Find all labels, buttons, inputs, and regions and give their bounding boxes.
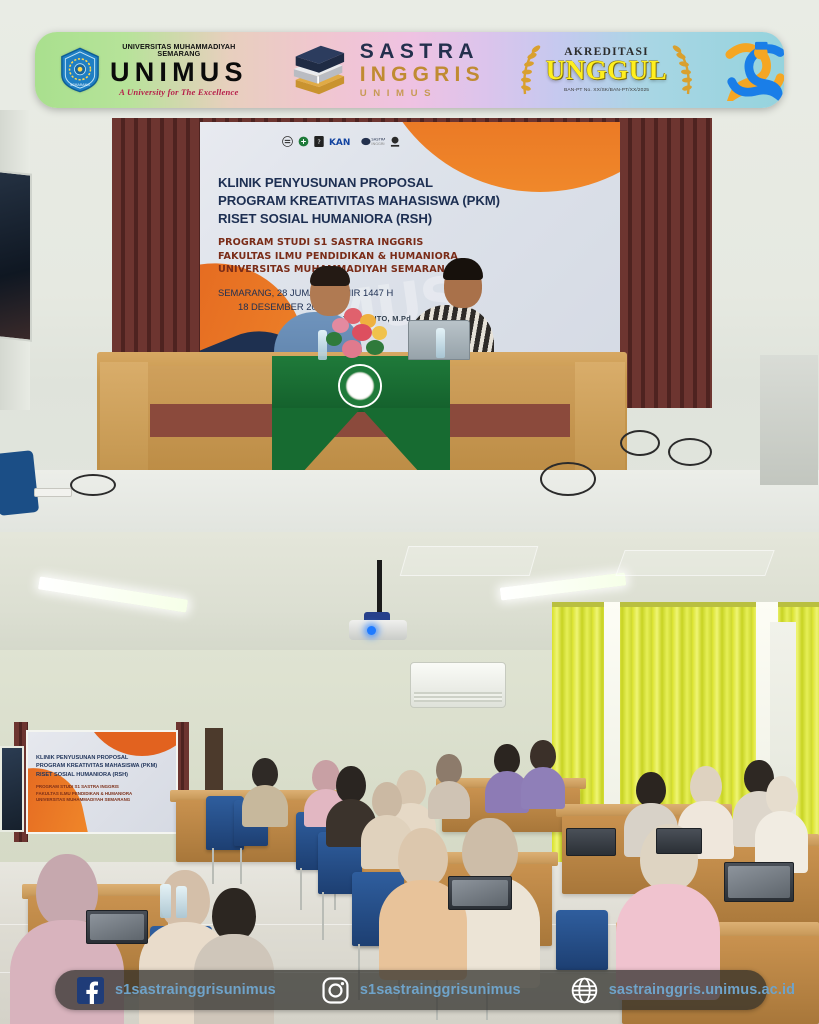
unimus-acronym: UNIMUS [110, 59, 248, 87]
svg-text:SEMARANG: SEMARANG [70, 83, 90, 87]
accreditation-text: AKREDITASI UNGGUL BAN-PT No. XX/SK/BAN-P… [543, 45, 671, 94]
ceiling-projector [349, 620, 407, 640]
instagram-entry[interactable]: s1sastrainggrisunimus [322, 977, 521, 1004]
student-laptop-right-screen [728, 866, 790, 898]
chair-leg [240, 848, 242, 884]
unimus-wordmark: UNIVERSITAS MUHAMMADIYAH SEMARANG UNIMUS… [110, 43, 248, 97]
social-footer-bar: s1sastrainggrisunimus s1sastrainggrisuni… [55, 970, 767, 1010]
sastra-line-2: INGGRIS [360, 64, 485, 85]
front-backdrop-title-3: RISET SOSIAL HUMANIORA (RSH) [36, 771, 172, 779]
svg-text:SASTRA: SASTRA [371, 138, 385, 142]
sastra-line-3: UNIMUS [360, 89, 485, 99]
iso-badge-icon: ? [314, 136, 324, 147]
sastra-inggris-block: SASTRA INGGRIS UNIMUS [290, 32, 485, 108]
backdrop-title-line-3: RISET SOSIAL HUMANIORA (RSH) [218, 210, 608, 228]
water-bottle-workshop-1 [160, 884, 171, 918]
student-back-6 [436, 754, 470, 819]
room-floor [0, 470, 819, 532]
backdrop-date-gregorian: 18 DESEMBER 2025 M [218, 300, 608, 314]
water-bottle-right [436, 328, 445, 358]
globe-icon[interactable] [571, 977, 598, 1004]
front-backdrop-sub-3: UNIVERSITAS MUHAMMADIYAH SEMARANG [36, 797, 172, 804]
unimus-person-swoosh-icon [724, 39, 784, 101]
curtain-rail [552, 602, 819, 607]
laurel-wreath-left-icon [517, 42, 543, 98]
backdrop-sub-line-1: PROGRAM STUDI S1 SASTRA INGGRIS [218, 236, 608, 250]
front-backdrop-title-1: KLINIK PENYUSUNAN PROPOSAL [36, 754, 172, 762]
student-back-8 [530, 740, 565, 809]
front-backdrop-sub-1: PROGRAM STUDI S1 SASTRA INGGRIS [36, 784, 172, 791]
air-conditioner-vent [414, 692, 502, 702]
poster-root: MUS ? KAN SASTR [0, 0, 819, 1024]
water-bottle-workshop-2 [176, 886, 187, 918]
ban-pt-logo-icon [282, 136, 293, 147]
front-backdrop-orange-top [82, 730, 178, 756]
floor-cable-4 [70, 474, 116, 496]
backdrop-title-line-2: PROGRAM KREATIVITAS MAHASISWA (PKM) [218, 192, 608, 210]
unimus-university-name: UNIVERSITAS MUHAMMADIYAH SEMARANG [110, 43, 248, 57]
wall-tv-icon [0, 170, 32, 342]
website-url[interactable]: sastrainggris.unimus.ac.id [609, 982, 795, 998]
backdrop-text-block: KLINIK PENYUSUNAN PROPOSAL PROGRAM KREAT… [218, 174, 608, 315]
instagram-icon[interactable] [322, 977, 349, 1004]
brandmark-block [724, 32, 784, 108]
lam-logo-icon [298, 136, 309, 147]
muhammadiyah-emblem-icon [340, 366, 380, 406]
backdrop-sub-line-2: FAKULTAS ILMU PENDIDIKAN & HUMANIORA [218, 250, 608, 264]
ceiling-access-panel [400, 546, 539, 576]
chair-leg [300, 868, 302, 910]
stacked-books-icon [290, 44, 348, 96]
front-backdrop-sub-2: FAKULTAS ILMU PENDIDIKAN & HUMANIORA [36, 791, 172, 798]
accreditation-logo-strip: ? KAN SASTRA INGGRIS [282, 136, 400, 147]
header-banner: SEMARANG UNIVERSITAS MUHAMMADIYAH SEMARA… [35, 32, 784, 108]
accreditation-block: AKREDITASI UNGGUL BAN-PT No. XX/SK/BAN-P… [517, 32, 697, 108]
sastra-line-1: SASTRA [360, 41, 485, 62]
right-equipment-rack [760, 355, 818, 485]
instagram-handle[interactable]: s1sastrainggrisunimus [360, 982, 521, 998]
chair-leg [322, 892, 324, 940]
presenter-left-hair [310, 266, 350, 286]
wall-monitor [0, 746, 24, 832]
accreditation-decree: BAN-PT No. XX/SK/BAN-PT/XX/2025 [546, 88, 668, 95]
facebook-icon[interactable] [77, 977, 104, 1004]
svg-text:?: ? [317, 139, 320, 146]
projector-power-led-icon [367, 626, 376, 635]
website-entry[interactable]: sastrainggris.unimus.ac.id [571, 977, 795, 1004]
photo-workshop-session: KLINIK PENYUSUNAN PROPOSAL PROGRAM KREAT… [0, 532, 819, 1024]
chair-right-1 [556, 910, 608, 970]
muhammadiyah-mini-logo-icon [390, 136, 400, 147]
student-laptop-mid-screen [452, 880, 508, 906]
front-backdrop-small: KLINIK PENYUSUNAN PROPOSAL PROGRAM KREAT… [26, 730, 178, 834]
ceiling-access-panel-2 [615, 550, 774, 576]
power-strip [34, 488, 72, 497]
svg-text:KAN: KAN [329, 138, 350, 147]
backdrop-title-line-1: KLINIK PENYUSUNAN PROPOSAL [218, 174, 608, 192]
unimus-seal-icon: SEMARANG [59, 47, 101, 93]
accreditation-grade: UNGGUL [546, 57, 668, 85]
student-back-1 [252, 758, 288, 827]
sastra-wordmark: SASTRA INGGRIS UNIMUS [360, 41, 485, 99]
sastra-inggris-mini-logo-icon: SASTRA INGGRIS [361, 136, 385, 147]
kan-logo-icon: KAN [329, 136, 356, 147]
front-backdrop-title-2: PROGRAM KREATIVITAS MAHASISWA (PKM) [36, 762, 172, 770]
side-door [205, 728, 223, 792]
stacked-chair [0, 450, 39, 516]
facebook-handle[interactable]: s1sastrainggrisunimus [115, 982, 276, 998]
floor-cable-2 [668, 438, 712, 466]
laurel-wreath-right-icon [670, 42, 696, 98]
svg-text:INGGRIS: INGGRIS [371, 142, 385, 146]
flower-arrangement [322, 308, 404, 363]
backdrop-sub-line-3: UNIVERSITAS MUHAMMADIYAH SEMARANG [218, 263, 608, 277]
floor-cable-3 [540, 462, 596, 496]
facebook-entry[interactable]: s1sastrainggrisunimus [77, 977, 276, 1004]
unimus-tagline: A University for The Excellence [110, 88, 248, 97]
floor-cable-1 [620, 430, 660, 456]
student-laptop-left-screen [90, 914, 144, 940]
student-laptop-back-right-2 [656, 828, 702, 854]
student-right-4 [766, 776, 808, 873]
unimus-identity-block: SEMARANG UNIVERSITAS MUHAMMADIYAH SEMARA… [35, 32, 248, 108]
student-laptop-back-right [566, 828, 616, 856]
